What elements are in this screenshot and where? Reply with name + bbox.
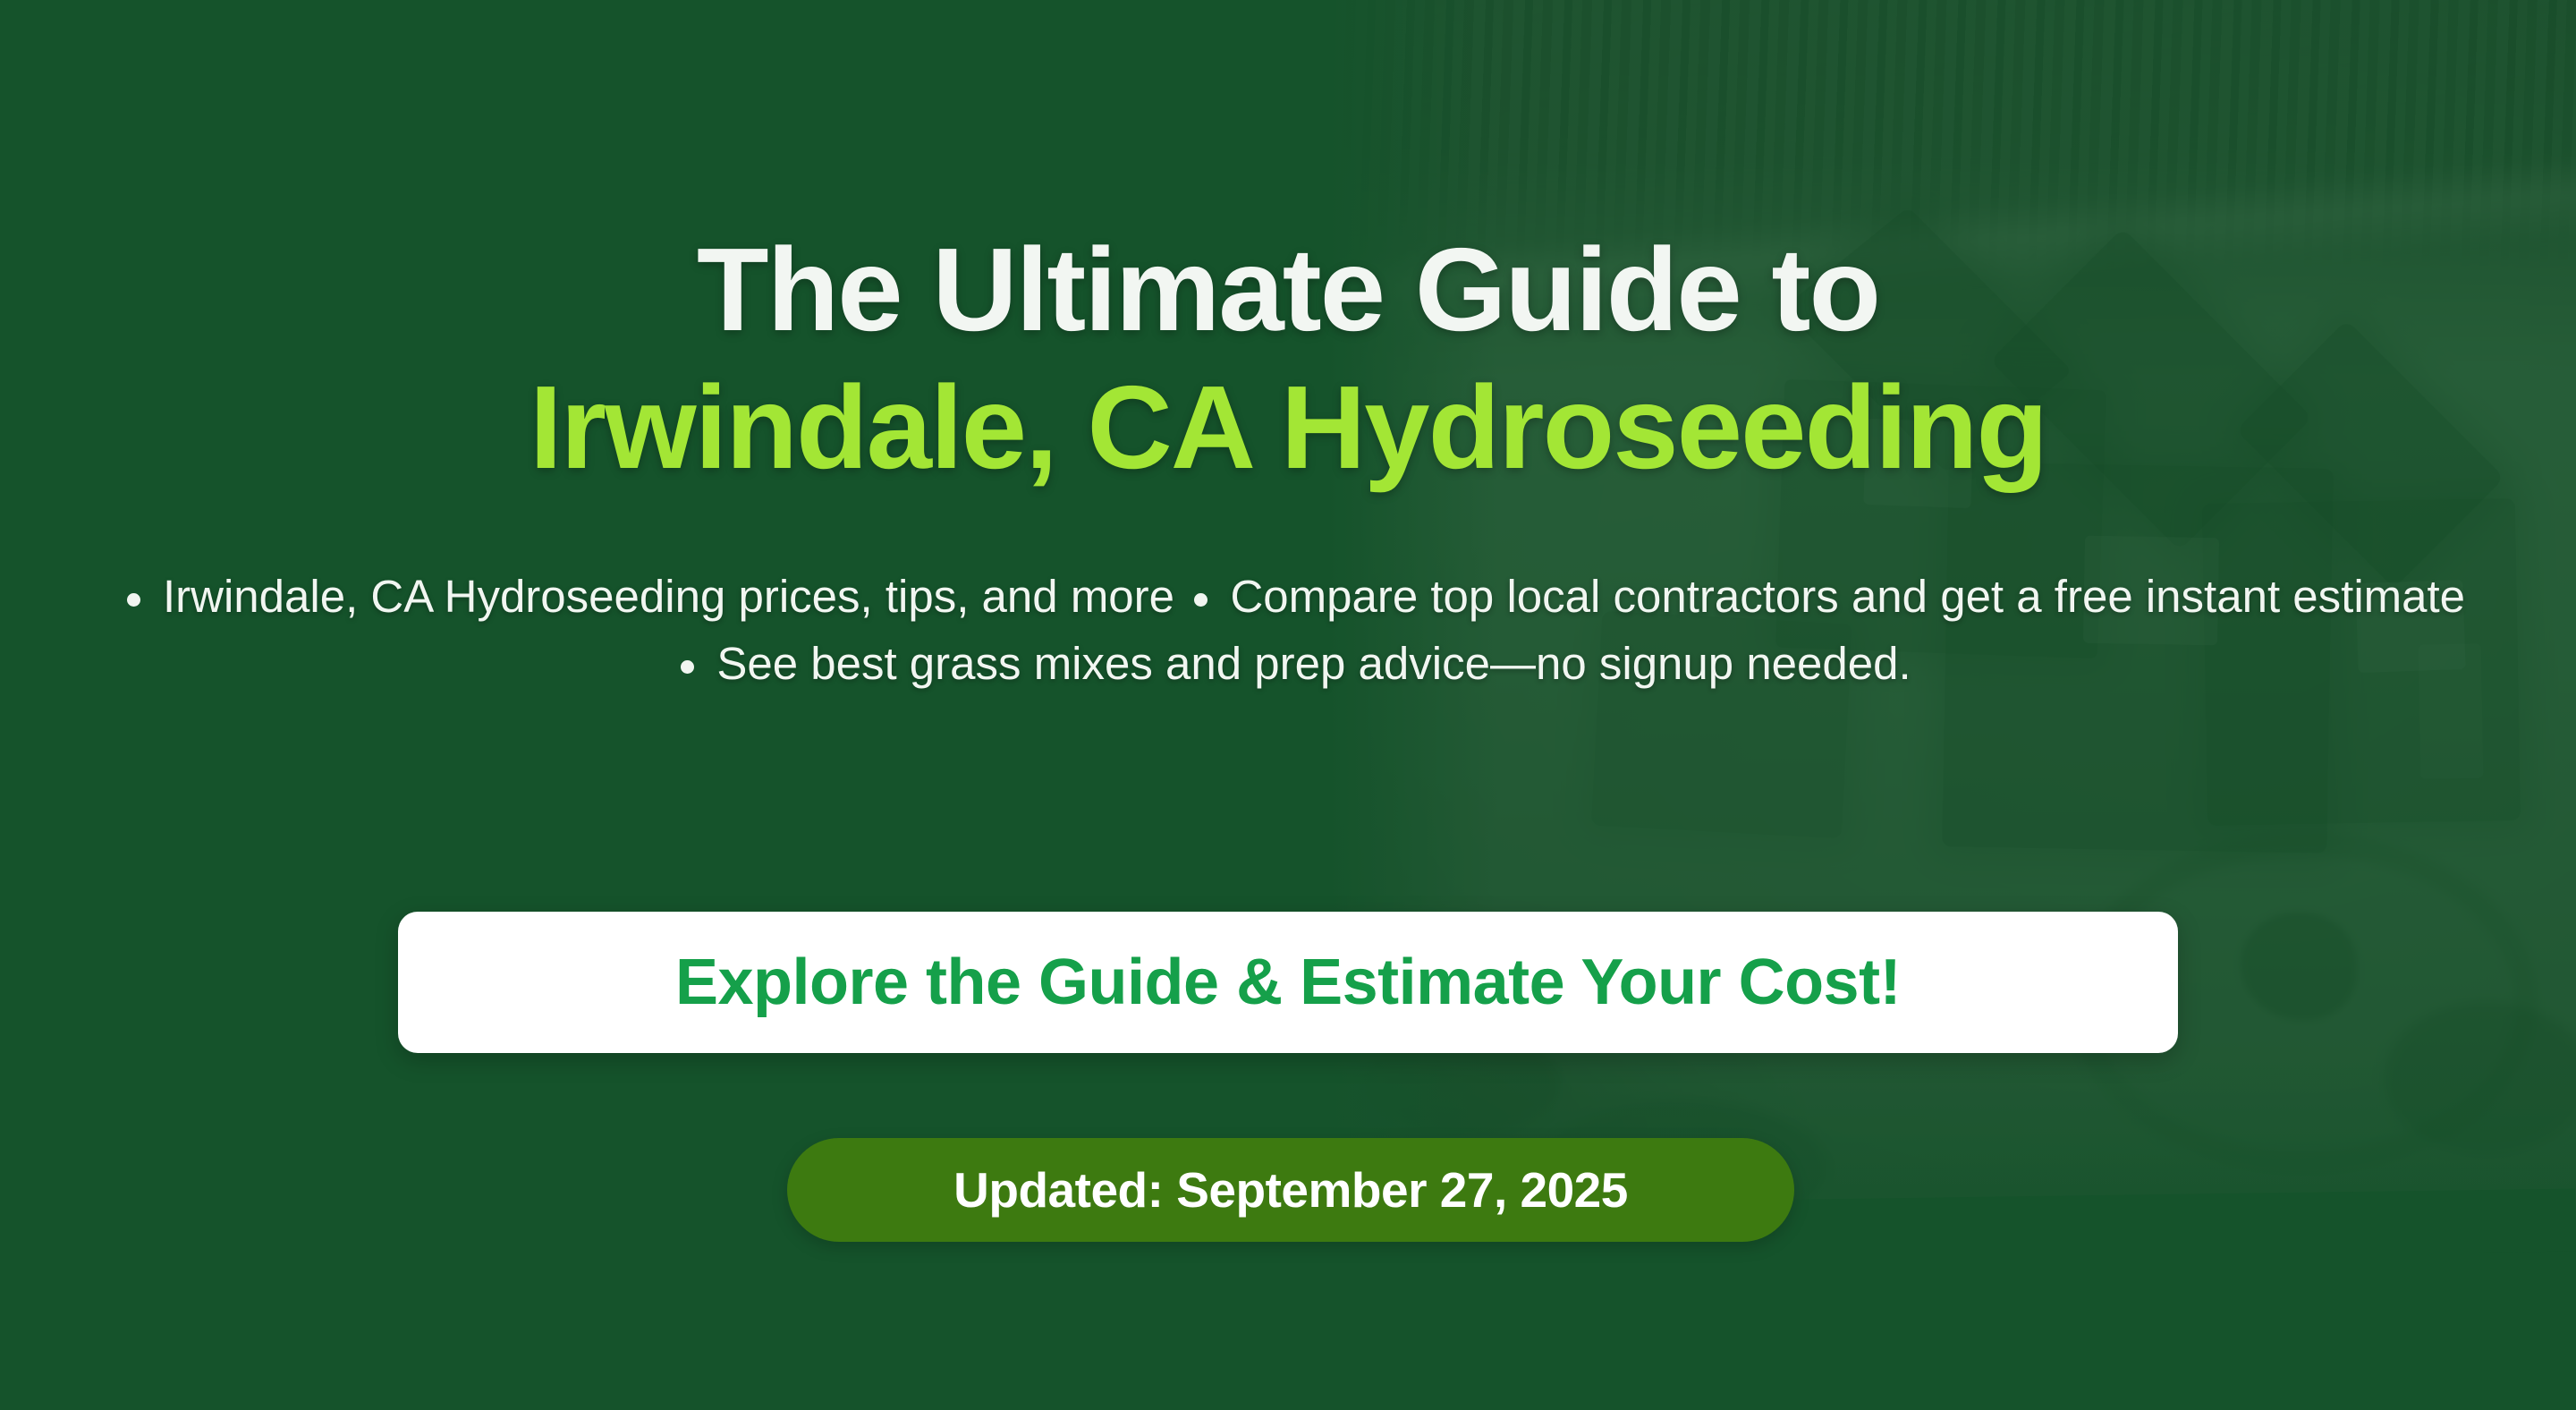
headline-line-2: Irwindale, CA Hydroseeding bbox=[0, 369, 2576, 487]
list-item-label: See best grass mixes and prep advice—no … bbox=[716, 638, 1911, 689]
list-item-label: Irwindale, CA Hydroseeding prices, tips,… bbox=[163, 571, 1174, 622]
headline-line-1: The Ultimate Guide to bbox=[0, 231, 2576, 349]
hero-banner: The Ultimate Guide to Irwindale, CA Hydr… bbox=[0, 0, 2576, 1410]
list-item-label: Compare top local contractors and get a … bbox=[1230, 571, 2465, 622]
updated-badge: Updated: September 27, 2025 bbox=[787, 1138, 1794, 1242]
hero-content: The Ultimate Guide to Irwindale, CA Hydr… bbox=[0, 0, 2576, 1410]
explore-guide-button[interactable]: Explore the Guide & Estimate Your Cost! bbox=[398, 912, 2178, 1053]
page-title: The Ultimate Guide to Irwindale, CA Hydr… bbox=[0, 231, 2576, 487]
list-item: Irwindale, CA Hydroseeding prices, tips,… bbox=[111, 571, 1174, 622]
list-item: See best grass mixes and prep advice—no … bbox=[665, 638, 1911, 689]
list-item: Compare top local contractors and get a … bbox=[1178, 571, 2465, 622]
benefit-list: Irwindale, CA Hydroseeding prices, tips,… bbox=[0, 571, 2576, 705]
